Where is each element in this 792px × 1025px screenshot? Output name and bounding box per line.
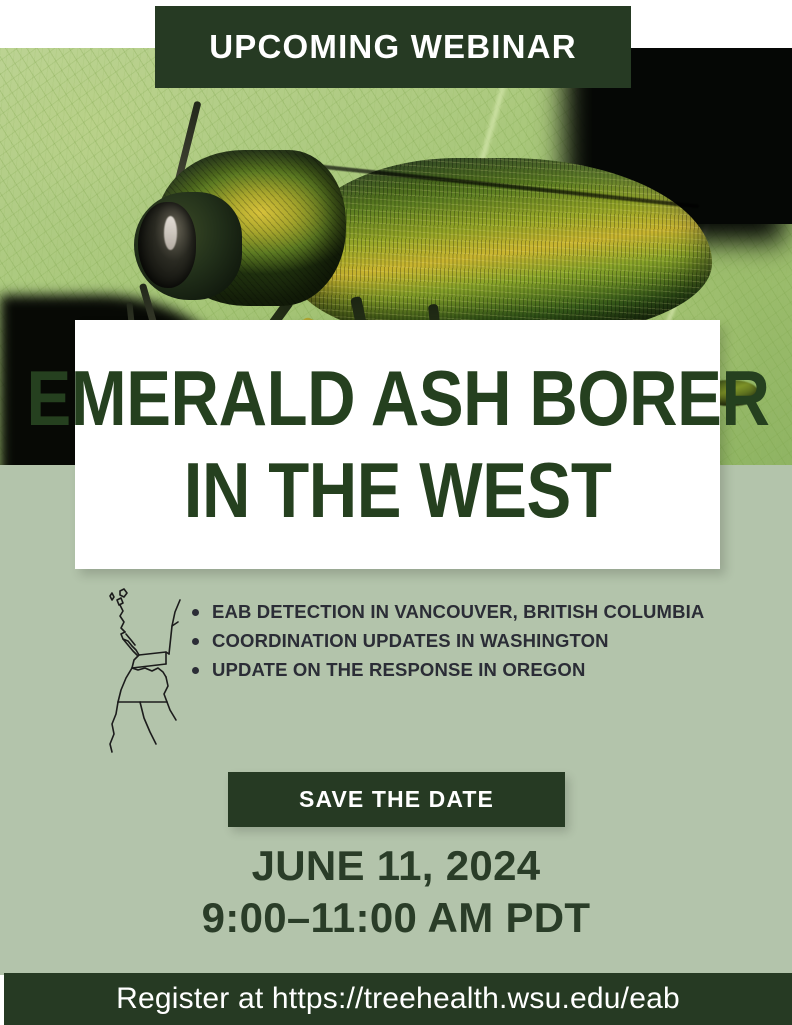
save-the-date-banner: SAVE THE DATE (228, 772, 565, 827)
beetle-eye-highlight (164, 216, 177, 250)
event-date: JUNE 11, 2024 (0, 840, 792, 892)
registration-link-label[interactable]: Register at https://treehealth.wsu.edu/e… (116, 982, 680, 1016)
upcoming-webinar-banner: UPCOMING WEBINAR (155, 6, 631, 88)
event-date-time-block: JUNE 11, 2024 9:00–11:00 AM PDT (0, 840, 792, 944)
upcoming-webinar-label: UPCOMING WEBINAR (209, 28, 577, 66)
pnw-map-outline-icon (90, 582, 190, 754)
pacific-northwest-map-icon (90, 582, 190, 754)
webinar-topic-list: EAB DETECTION IN VANCOUVER, BRITISH COLU… (186, 598, 732, 685)
topic-item: UPDATE ON THE RESPONSE IN OREGON (212, 656, 732, 685)
topic-item: COORDINATION UPDATES IN WASHINGTON (212, 627, 732, 656)
title-card: EMERALD ASH BORER IN THE WEST (75, 320, 720, 569)
event-time: 9:00–11:00 AM PDT (0, 892, 792, 944)
topic-item: EAB DETECTION IN VANCOUVER, BRITISH COLU… (212, 598, 732, 627)
poster-title-line-1: EMERALD ASH BORER (26, 360, 769, 437)
poster-title-line-2: IN THE WEST (184, 452, 612, 529)
registration-footer-bar[interactable]: Register at https://treehealth.wsu.edu/e… (4, 973, 792, 1025)
webinar-poster: UPCOMING WEBINAR EMERALD ASH BORER IN TH… (0, 0, 792, 1025)
save-the-date-label: SAVE THE DATE (299, 786, 494, 813)
